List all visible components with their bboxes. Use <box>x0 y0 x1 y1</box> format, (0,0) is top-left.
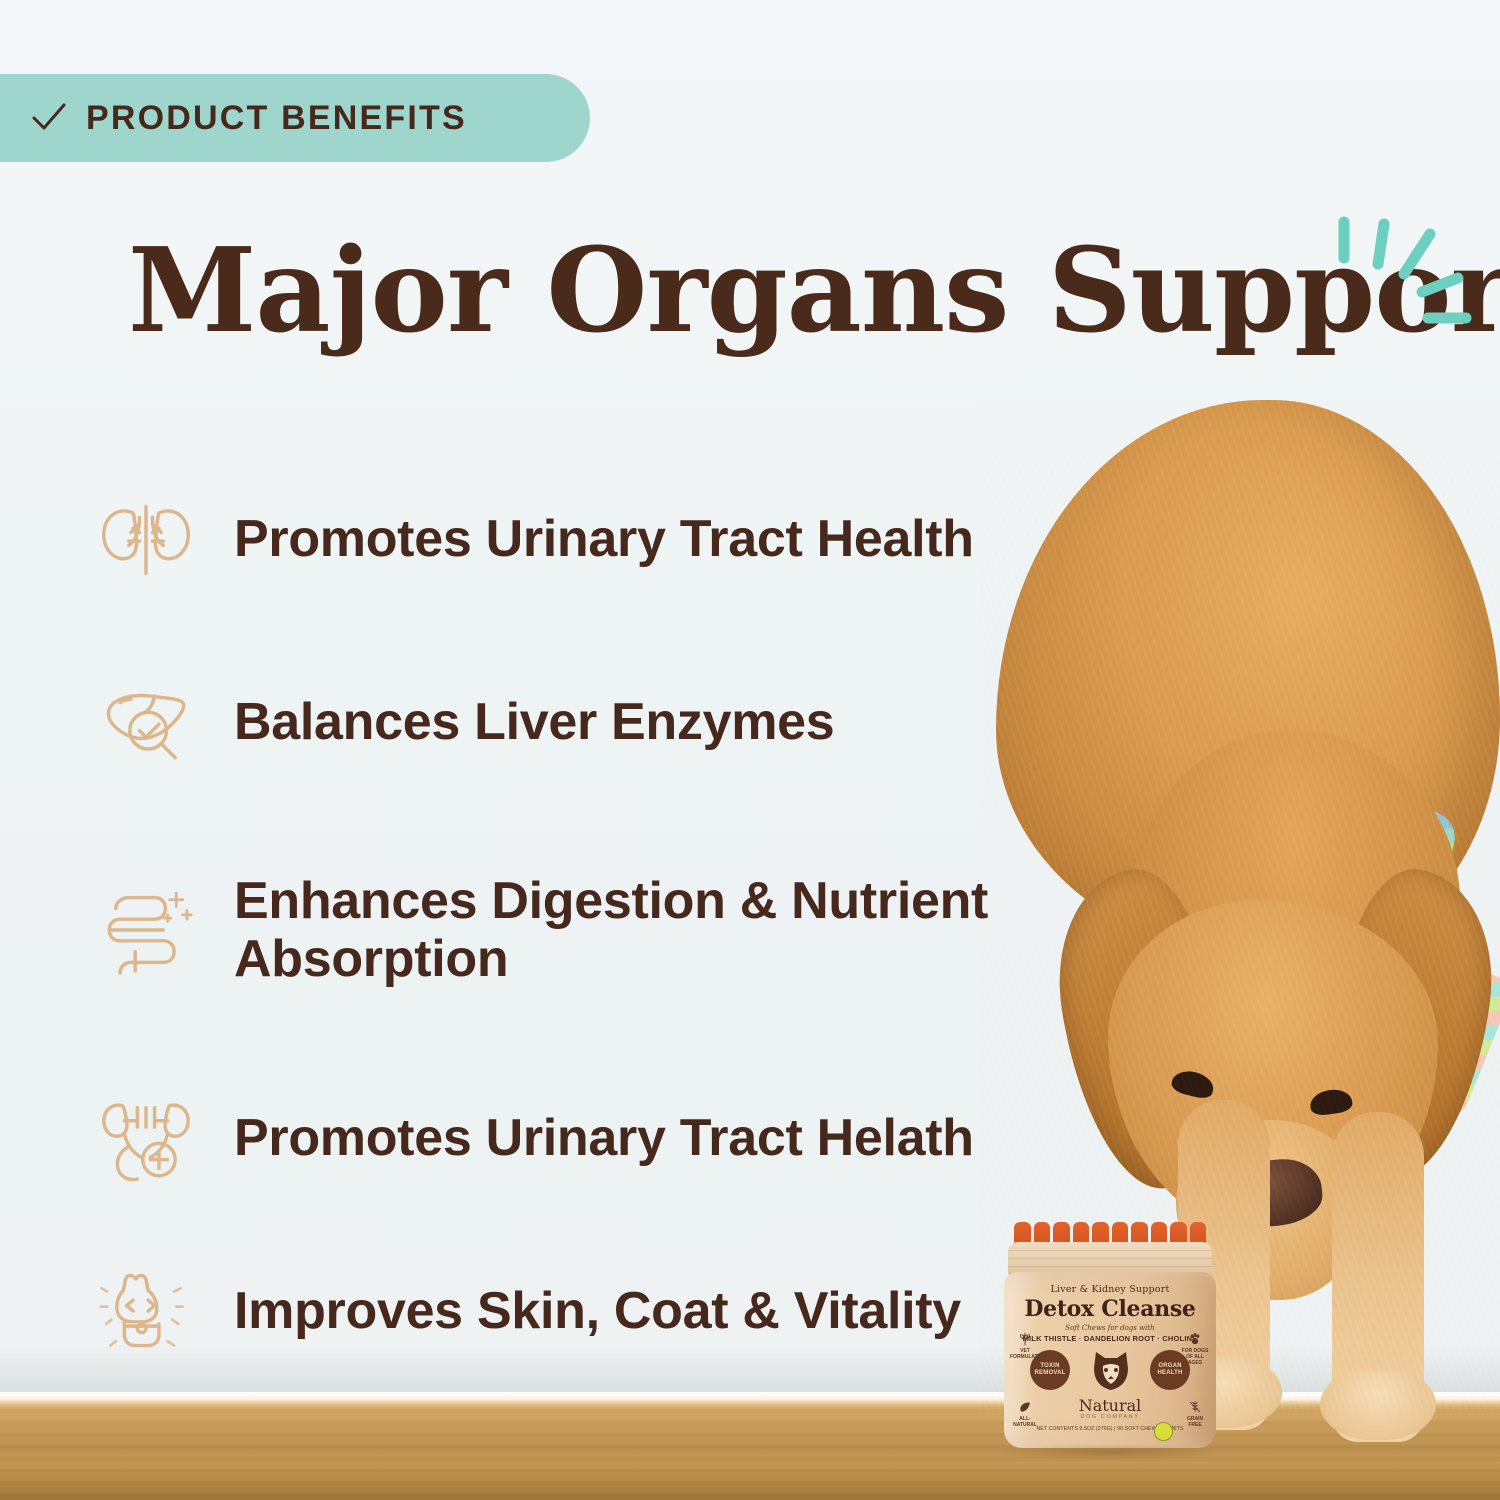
urinary-system-plus-icon <box>92 1084 200 1192</box>
benefit-item-urinary-tract: Promotes Urinary Tract Helath <box>92 1058 1092 1218</box>
product-jar: Liver & Kidney Support Detox Cleanse Sof… <box>1004 1222 1216 1454</box>
benefit-text: Promotes Urinary Tract Helath <box>234 1109 974 1167</box>
dog-paw-right <box>1320 1370 1436 1440</box>
wood-grain <box>0 1406 1500 1500</box>
benefit-item-liver-enzymes: Balances Liver Enzymes <box>92 642 1092 802</box>
sparkle-rays-icon <box>1318 206 1498 356</box>
page-title: Major Organs Support <box>128 232 1500 350</box>
intestines-sparkle-icon <box>92 876 200 984</box>
grain-free-badge: GRAIN FREE <box>1180 1400 1210 1428</box>
liver-magnifier-check-icon <box>92 668 200 776</box>
kidneys-icon <box>92 485 200 593</box>
wheat-crossed-icon <box>1188 1400 1202 1414</box>
paw-icon <box>1188 1332 1202 1346</box>
benefit-text: Balances Liver Enzymes <box>234 693 834 751</box>
leaf-icon <box>1018 1400 1032 1414</box>
benefit-item-skin-coat: Improves Skin, Coat & Vitality <box>92 1246 1092 1376</box>
product-benefits-badge: PRODUCT BENEFITS <box>0 74 590 162</box>
jar-label: Liver & Kidney Support Detox Cleanse Sof… <box>1004 1272 1216 1448</box>
benefit-text: Promotes Urinary Tract Health <box>234 510 974 568</box>
benefit-item-digestion: Enhances Digestion & Nutrient Absorption <box>92 830 1092 1030</box>
benefits-list: Promotes Urinary Tract Health Balances L… <box>92 464 1092 1376</box>
for-all-ages-badge: FOR DOGS OF ALL AGES <box>1180 1332 1210 1366</box>
caduceus-icon <box>1018 1332 1032 1346</box>
vet-formulated-badge: VET FORMULATED <box>1010 1332 1040 1360</box>
benefit-text: Improves Skin, Coat & Vitality <box>234 1282 961 1340</box>
jar-shadow <box>994 1444 1226 1460</box>
non-gmo-seal-icon <box>1154 1422 1173 1441</box>
jar-chew-line: Soft Chews for dogs with <box>1004 1324 1216 1332</box>
jar-subtitle: Liver & Kidney Support <box>1004 1284 1216 1295</box>
benefit-text: Enhances Digestion & Nutrient Absorption <box>234 872 1092 988</box>
dog-sparkle-icon <box>92 1257 200 1365</box>
jar-title: Detox Cleanse <box>1004 1296 1216 1322</box>
dog-face-logo-icon <box>1090 1346 1132 1394</box>
product-benefits-graphic: PRODUCT BENEFITS Major Organs Support Pr… <box>0 0 1500 1500</box>
benefit-item-urinary-health: Promotes Urinary Tract Health <box>92 464 1092 614</box>
badge-label: PRODUCT BENEFITS <box>86 99 467 138</box>
all-natural-badge: ALL-NATURAL <box>1010 1400 1040 1428</box>
check-icon <box>32 103 66 133</box>
